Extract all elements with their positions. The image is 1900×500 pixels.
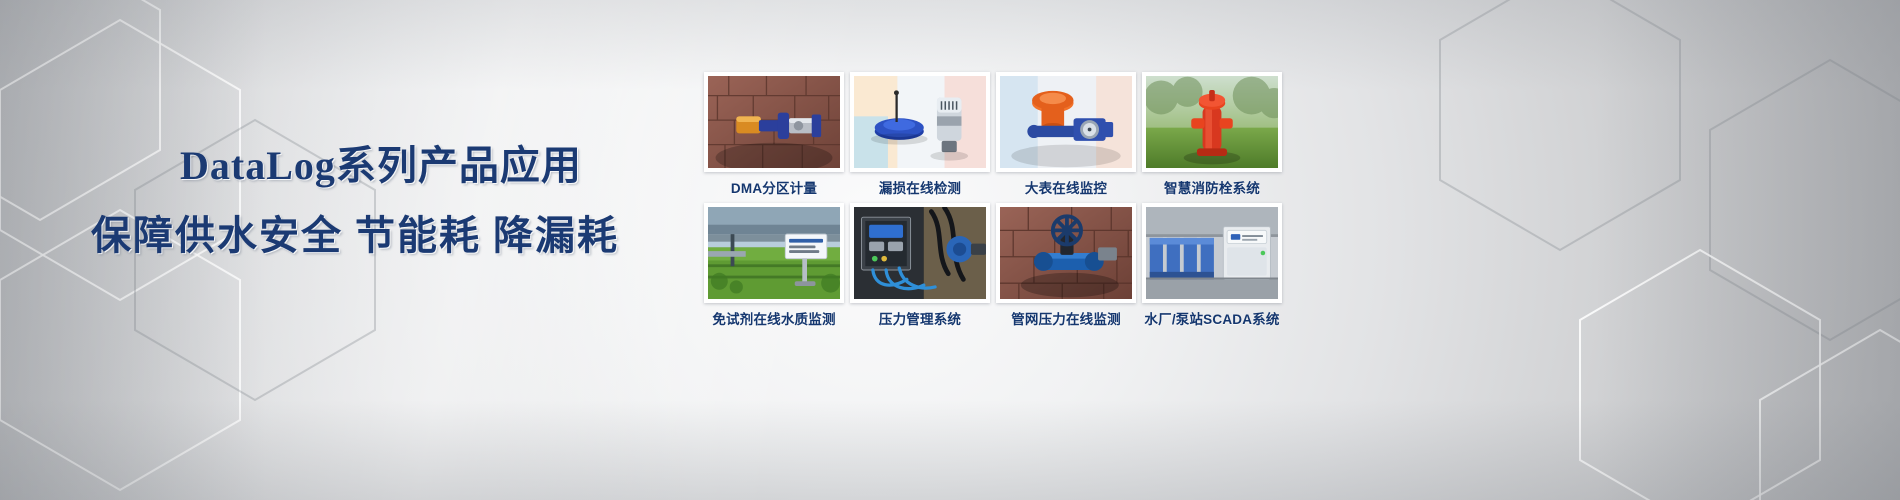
pipe-network-pressure-valve-photo-icon: [1000, 207, 1132, 299]
product-application-banner: DataLog系列产品应用 保障供水安全 节能耗 降漏耗: [0, 0, 1900, 500]
large-water-meter-photo-icon: [1000, 76, 1132, 168]
product-thumbnail[interactable]: [850, 203, 990, 303]
product-thumbnail[interactable]: [850, 72, 990, 172]
product-card[interactable]: 大表在线监控: [996, 72, 1136, 197]
product-caption: 漏损在线检测: [850, 181, 990, 197]
product-card[interactable]: DMA分区计量: [704, 72, 844, 197]
product-card[interactable]: 水厂/泵站SCADA系统: [1142, 203, 1282, 328]
product-caption: 智慧消防栓系统: [1142, 181, 1282, 197]
product-thumbnail[interactable]: [996, 203, 1136, 303]
water-quality-monitoring-station-photo-icon: [708, 207, 840, 299]
product-caption: 水厂/泵站SCADA系统: [1142, 312, 1282, 328]
valve-on-brick-pavement-photo-icon: [708, 76, 840, 168]
headline-line-1: DataLog系列产品应用: [0, 140, 700, 192]
product-card[interactable]: 免试剂在线水质监测: [704, 203, 844, 328]
product-caption: DMA分区计量: [704, 181, 844, 197]
scada-pump-station-cabinet-photo-icon: [1146, 207, 1278, 299]
product-caption: 压力管理系统: [850, 312, 990, 328]
product-thumbnail[interactable]: [704, 203, 844, 303]
product-caption: 管网压力在线监测: [996, 312, 1136, 328]
product-card[interactable]: 管网压力在线监测: [996, 203, 1136, 328]
headline-block: DataLog系列产品应用 保障供水安全 节能耗 降漏耗: [0, 140, 700, 262]
product-thumbnail[interactable]: [996, 72, 1136, 172]
pressure-management-cabinet-photo-icon: [854, 207, 986, 299]
product-card[interactable]: 智慧消防栓系统: [1142, 72, 1282, 197]
product-thumbnail[interactable]: [1142, 72, 1282, 172]
headline-line-2: 保障供水安全 节能耗 降漏耗: [0, 210, 700, 262]
product-card[interactable]: 漏损在线检测: [850, 72, 990, 197]
smart-fire-hydrant-photo-icon: [1146, 76, 1278, 168]
product-thumbnail[interactable]: [1142, 203, 1282, 303]
product-caption: 免试剂在线水质监测: [704, 312, 844, 328]
product-thumbnail[interactable]: [704, 72, 844, 172]
leak-detection-logger-photo-icon: [854, 76, 986, 168]
product-grid: DMA分区计量: [704, 72, 1304, 328]
product-caption: 大表在线监控: [996, 181, 1136, 197]
product-card[interactable]: 压力管理系统: [850, 203, 990, 328]
